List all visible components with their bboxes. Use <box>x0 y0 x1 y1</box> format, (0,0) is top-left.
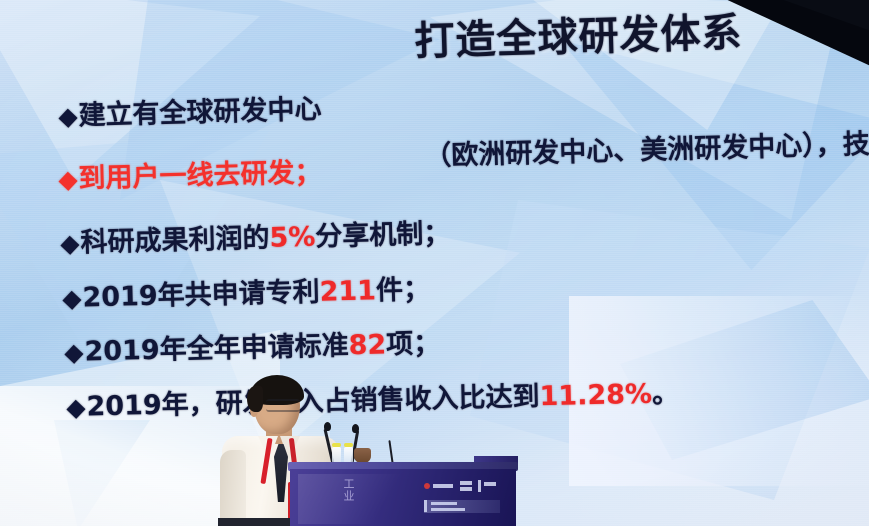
sponsor-logo-bar <box>484 482 496 486</box>
bullet-item-2: ◆到用户一线去研发； <box>58 159 322 193</box>
bullet-highlight-value: 82 <box>348 329 386 361</box>
slide-content: 打造全球研发体系 ◆建立有全球研发中心 （欧洲研发中心、美洲研发中心），技术 ◆… <box>0 0 869 526</box>
bullet-marker-icon: ◆ <box>58 165 77 194</box>
glasses-icon <box>266 399 300 412</box>
bullet-marker-icon: ◆ <box>64 338 83 367</box>
sponsor-logo-bar <box>433 484 453 488</box>
bullet-item-1: ◆建立有全球研发中心 <box>58 96 322 130</box>
sponsor-logo-bar <box>478 480 481 492</box>
bullet-highlight-value: 5% <box>269 222 316 254</box>
podium-lower-strip <box>424 500 500 513</box>
bullet-text-before: 2019年全年申请标准 <box>84 330 349 367</box>
podium-vertical-text: 工业 <box>340 478 354 502</box>
bullet-highlight-value: 11.28% <box>539 379 652 413</box>
bullet-marker-icon: ◆ <box>58 102 77 131</box>
bullet-text-after: 。 <box>652 378 680 410</box>
bullet-item-6: ◆2019年，研发投入占销售收入比达到11.28%。 <box>66 380 679 421</box>
bottle-cap-left <box>332 443 341 447</box>
bottle-cap-right <box>344 443 353 447</box>
bullet-item-3: ◆科研成果利润的5%分享机制； <box>60 220 451 257</box>
sponsor-logo-bar <box>460 481 472 485</box>
podium-sheen <box>298 474 418 524</box>
bullet-text: 建立有全球研发中心 <box>78 94 322 132</box>
podium: 工业 <box>288 462 518 526</box>
bullet-text-before: 科研成果利润的 <box>80 223 270 259</box>
slide-title: 打造全球研发体系 <box>414 13 743 62</box>
bullet-marker-icon: ◆ <box>66 393 85 422</box>
bullet-text-after: 件； <box>376 274 431 306</box>
speaker-hair-side <box>247 386 263 412</box>
bullet-item-5: ◆2019年全年申请标准82项； <box>64 330 441 366</box>
bullet-marker-icon: ◆ <box>62 284 81 313</box>
bullet-text-after: 项； <box>386 328 441 360</box>
bullet-item-1-continuation: （欧洲研发中心、美洲研发中心），技术 <box>424 130 869 170</box>
drinking-cup <box>354 448 371 463</box>
bullet-text: 到用户一线去研发； <box>78 157 322 194</box>
bullet-text-before: 2019年共申请专利 <box>82 277 320 314</box>
microphone-head-left <box>324 422 331 431</box>
speaker-arm <box>220 450 246 526</box>
bullet-marker-icon: ◆ <box>60 229 79 258</box>
sponsor-logo-bar <box>460 487 472 491</box>
microphone-head-right <box>352 424 359 433</box>
presentation-photo: 打造全球研发体系 ◆建立有全球研发中心 （欧洲研发中心、美洲研发中心），技术 ◆… <box>0 0 869 526</box>
sponsor-logo-dot-icon <box>424 483 430 489</box>
bullet-text-continuation: （欧洲研发中心、美洲研发中心），技术 <box>424 128 869 172</box>
bullet-text-after: 分享机制； <box>315 218 451 252</box>
bullet-highlight-value: 211 <box>319 275 376 307</box>
bullet-item-4: ◆2019年共申请专利211件； <box>62 276 430 312</box>
